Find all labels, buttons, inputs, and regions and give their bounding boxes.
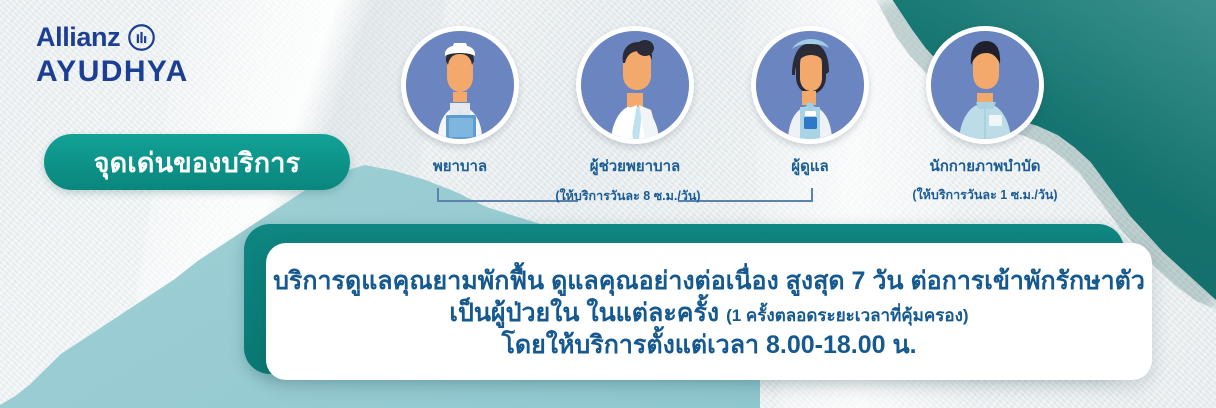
highlight-card-service-hours: 8.00-18.00 [766, 331, 886, 359]
avatar [401, 26, 519, 144]
logo-ayudhya-text: AYUDHYA [36, 57, 206, 87]
staff-item-physiotherapist: นักกายภาพบำบัด (ให้บริการวันละ 1 ซ.ม./วั… [895, 26, 1075, 205]
allianz-circle-bars-icon [128, 24, 155, 51]
avatar [751, 26, 869, 144]
staff-role-label: พยาบาล [370, 154, 550, 178]
section-badge-label: จุดเด่นของบริการ [94, 141, 301, 184]
highlight-card-line-2-note: (1 ครั้งตลอดระยะเวลาที่คุ้มครอง) [726, 306, 968, 325]
highlight-card-line-1: บริการดูแลคุณยามพักฟื้น ดูแลคุณอย่างต่อเ… [273, 265, 1145, 297]
highlight-card: บริการดูแลคุณยามพักฟื้น ดูแลคุณอย่างต่อเ… [266, 243, 1152, 380]
staff-service-note: (ให้บริการวันละ 1 ซ.ม./วัน) [895, 185, 1075, 205]
staff-role-label: นักกายภาพบำบัด [895, 154, 1075, 178]
caregiver-avatar [756, 31, 864, 139]
nurse-avatar [406, 31, 514, 139]
highlight-card-line-3-suffix: น. [886, 331, 917, 359]
highlight-card-line-2: เป็นผู้ป่วยใน ในแต่ละครั้ง (1 ครั้งตลอดร… [449, 297, 968, 329]
physiotherapist-avatar [931, 31, 1039, 139]
avatar [926, 26, 1044, 144]
highlight-card-line-2-main: เป็นผู้ป่วยใน ในแต่ละครั้ง [449, 299, 719, 327]
section-badge: จุดเด่นของบริการ [44, 134, 350, 190]
avatar [576, 26, 694, 144]
highlight-card-line-3-prefix: โดยให้บริการตั้งแต่เวลา [501, 331, 766, 359]
group-bracket-note: (ให้บริการวันละ 8 ซ.ม./วัน) [548, 186, 708, 206]
staff-item-caregiver: ผู้ดูแล [720, 26, 900, 178]
staff-role-label: ผู้ช่วยพยาบาล [545, 154, 725, 178]
staff-avatar-group: พยาบาล [370, 26, 1110, 206]
allianz-ayudhya-service-banner: Allianz AYUDHYA จุดเด่นของบริการ [0, 0, 1216, 408]
highlight-card-line-3: โดยให้บริการตั้งแต่เวลา 8.00-18.00 น. [501, 329, 916, 363]
staff-item-nurse-assistant: ผู้ช่วยพยาบาล [545, 26, 725, 178]
nurse-assistant-avatar [581, 31, 689, 139]
allianz-ayudhya-logo: Allianz AYUDHYA [36, 24, 206, 87]
staff-role-label: ผู้ดูแล [720, 154, 900, 178]
staff-item-nurse: พยาบาล [370, 26, 550, 178]
logo-allianz-text: Allianz [36, 24, 120, 51]
